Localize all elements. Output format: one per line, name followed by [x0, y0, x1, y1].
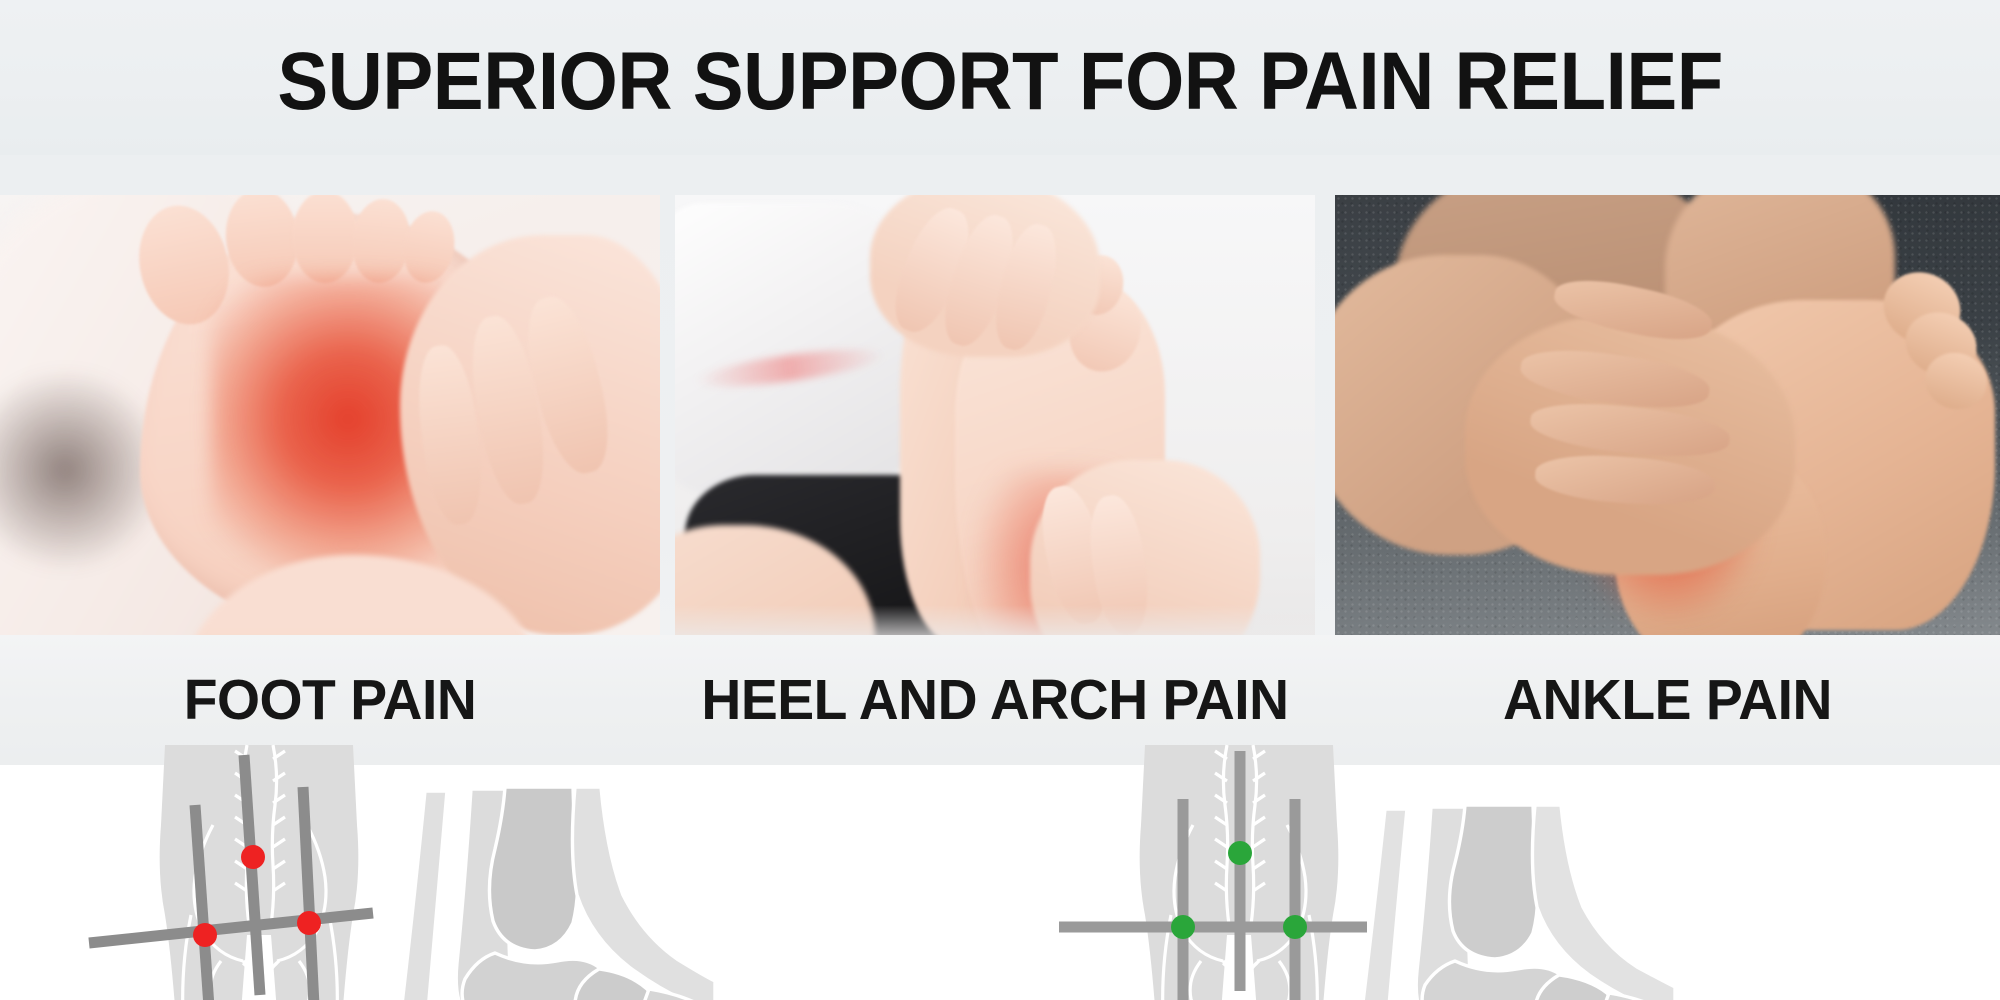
- marker-dot: [1171, 915, 1195, 939]
- promotional-banner: SUPERIOR SUPPORT FOR PAIN RELIEF: [0, 0, 2000, 1000]
- diagram-pelvis-misaligned: [95, 765, 425, 1000]
- marker-dot: [193, 923, 217, 947]
- toe-shape: [292, 195, 358, 283]
- diagram-foot-skeleton-left: [385, 783, 715, 1000]
- page-title: SUPERIOR SUPPORT FOR PAIN RELIEF: [277, 33, 1722, 123]
- foot-bones: [401, 787, 715, 1000]
- photo-heel-and-arch-pain: [675, 195, 1315, 675]
- panel-foot-pain: [0, 195, 660, 675]
- marker-dot: [241, 845, 265, 869]
- marker-dot: [1228, 841, 1252, 865]
- photo-foot-pain: [0, 195, 660, 675]
- diagram-foot-skeleton-right: [1345, 783, 1675, 1000]
- caption-foot-pain: FOOT PAIN: [10, 655, 650, 745]
- foot-bones: [1361, 805, 1675, 1000]
- marker-dot: [297, 911, 321, 935]
- caption-ankle-pain: ANKLE PAIN: [1345, 655, 1990, 745]
- panel-ankle-pain: [1335, 195, 2000, 675]
- marker-dot: [1283, 915, 1307, 939]
- photo-ankle-pain: [1335, 195, 2000, 675]
- caption-heel-and-arch-pain: HEEL AND ARCH PAIN: [685, 655, 1306, 745]
- diagram-section: [0, 765, 2000, 1000]
- panel-heel-and-arch-pain: [675, 195, 1315, 675]
- header-band: SUPERIOR SUPPORT FOR PAIN RELIEF: [0, 0, 2000, 155]
